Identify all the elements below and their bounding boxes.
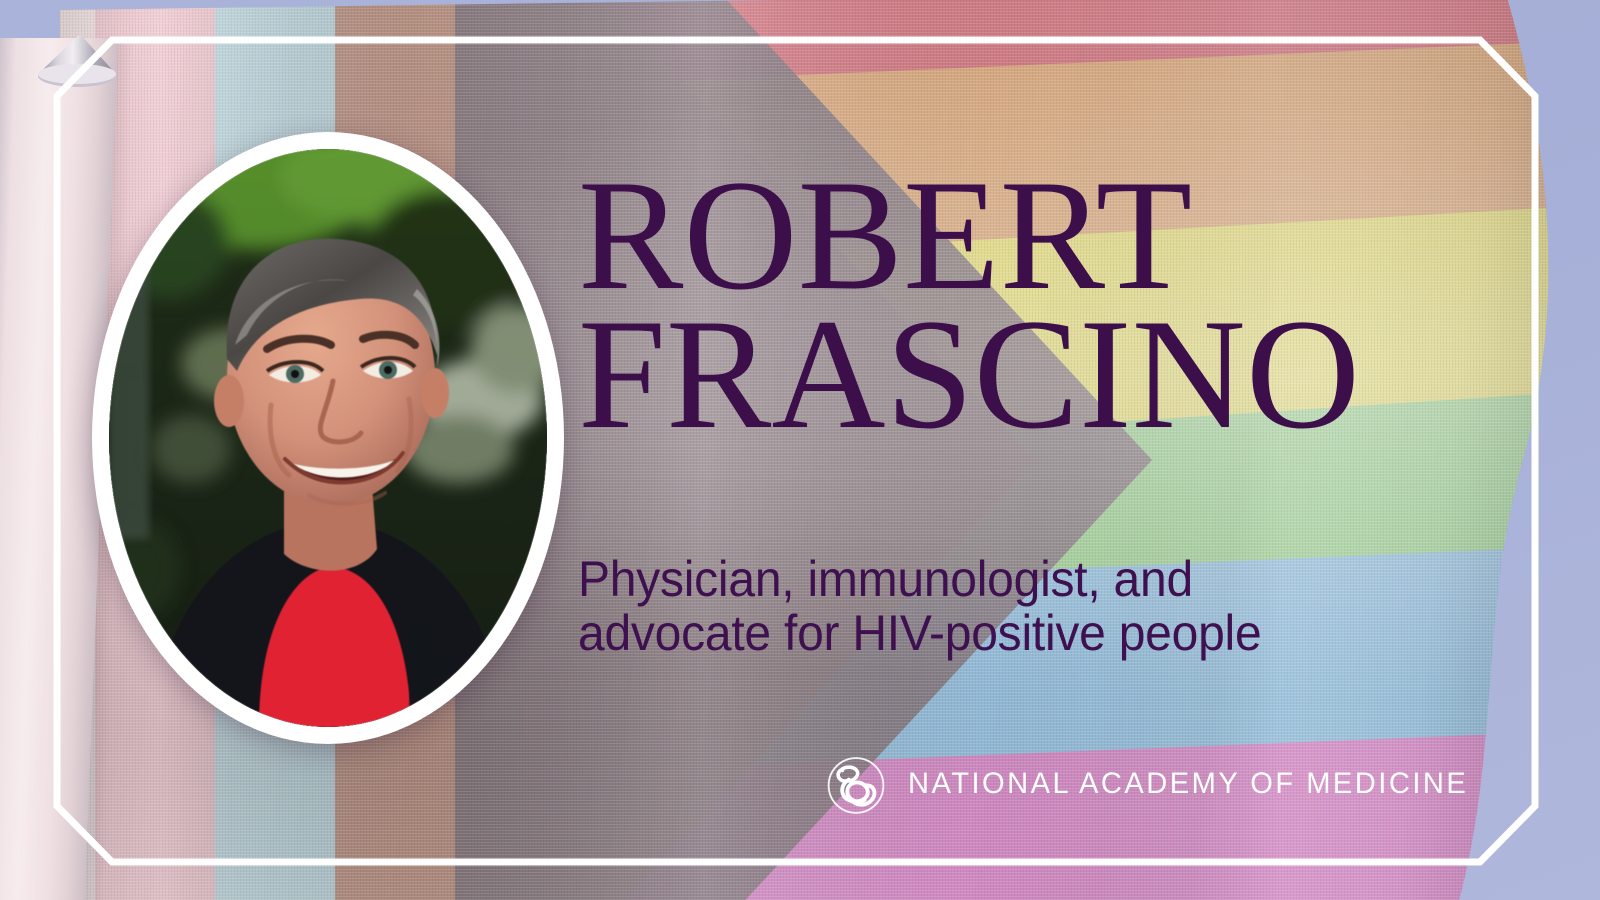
nam-logo-text: NATIONAL ACADEMY OF MEDICINE bbox=[908, 767, 1468, 801]
poster-canvas: ROBERT FRASCINO Physician, immunologist,… bbox=[0, 0, 1600, 900]
description-line-1: Physician, immunologist, and bbox=[578, 552, 1442, 606]
portrait-frame bbox=[92, 132, 564, 744]
nam-logo: NATIONAL ACADEMY OF MEDICINE bbox=[820, 748, 1486, 820]
name-line-1: ROBERT bbox=[578, 166, 1478, 305]
description-line-2: advocate for HIV-positive people bbox=[578, 606, 1442, 660]
cone-finial-icon bbox=[34, 34, 120, 92]
nam-serpent-icon bbox=[820, 748, 892, 820]
honoree-name: ROBERT FRASCINO bbox=[578, 166, 1478, 444]
avatar bbox=[109, 149, 547, 727]
honoree-description: Physician, immunologist, and advocate fo… bbox=[578, 552, 1442, 660]
name-line-2: FRASCINO bbox=[578, 305, 1478, 444]
